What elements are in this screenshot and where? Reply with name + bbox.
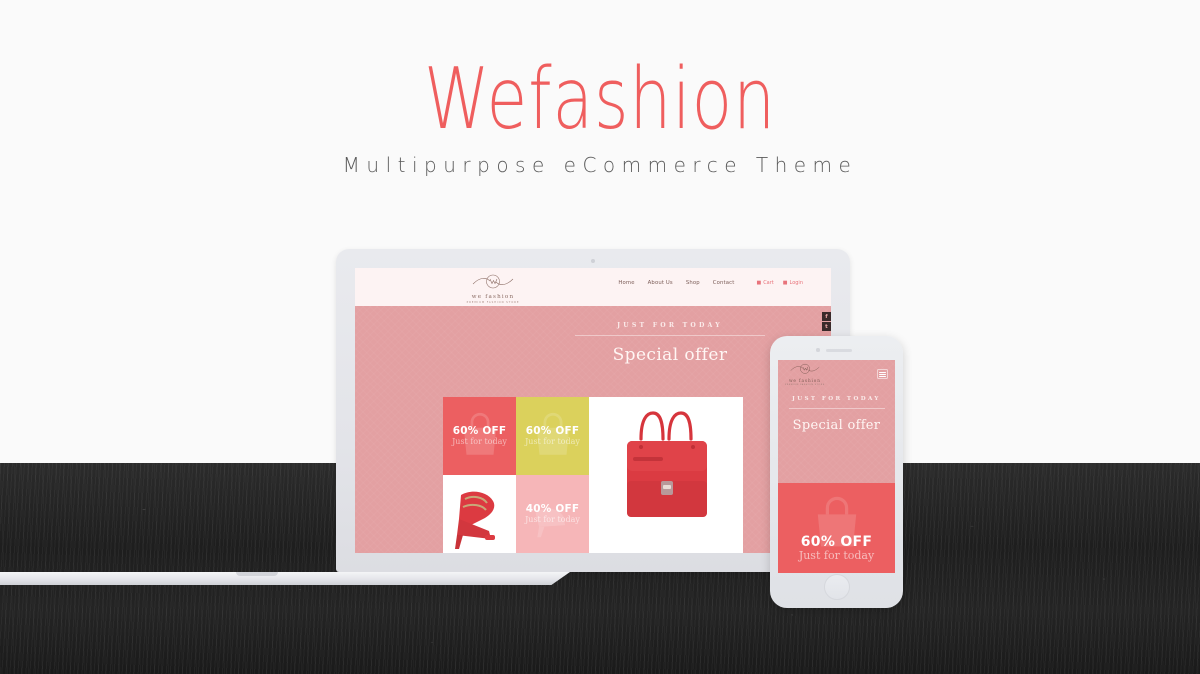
site-navigation: Home About Us Shop Contact ■ Cart ■ Logi… [618, 280, 803, 286]
mobile-logo-wordmark: we fashion [789, 378, 821, 383]
desktop-website-preview: we fashion PREMIUM FASHION STORE Home Ab… [355, 268, 831, 553]
site-body: 60% OFF Just for today 60% OFF Just for … [355, 384, 831, 553]
mobile-hero-title: Special offer [778, 418, 895, 433]
mobile-logo-tagline: PREMIUM FASHION STORE [785, 384, 825, 386]
page-subtitle: Multipurpose eCommerce Theme [0, 153, 1200, 177]
phone-screen: we fashion PREMIUM FASHION STORE JUST FO… [778, 360, 895, 573]
site-hero-banner: f t JUST FOR TODAY Special offer [355, 306, 831, 384]
logo-wordmark: we fashion [472, 294, 515, 300]
mobile-promo-panel[interactable]: 60% OFF Just for today [778, 483, 895, 573]
promo-tile-pink[interactable]: 40% OFF Just for today [516, 475, 589, 553]
mobile-discount-subtext: Just for today [778, 550, 895, 563]
phone-home-button[interactable] [824, 574, 850, 600]
headline-block: Wefashion Multipurpose eCommerce Theme [0, 55, 1200, 177]
login-label: Login [790, 280, 804, 286]
nav-item-home[interactable]: Home [618, 280, 634, 286]
login-button[interactable]: ■ Login [783, 280, 803, 286]
logo-tagline: PREMIUM FASHION STORE [467, 301, 520, 304]
laptop-screen: we fashion PREMIUM FASHION STORE Home Ab… [355, 268, 831, 553]
site-logo[interactable]: we fashion PREMIUM FASHION STORE [459, 268, 527, 308]
mobile-discount-value: 60% OFF [778, 535, 895, 549]
laptop-webcam-icon [591, 259, 595, 263]
promo-caption: 60% OFF Just for today [443, 426, 516, 446]
twitter-icon[interactable]: t [822, 322, 831, 331]
phone-speaker-grille [826, 349, 852, 352]
hero-content: JUST FOR TODAY Special offer [555, 322, 785, 365]
promo-caption: 60% OFF Just for today [516, 426, 589, 446]
nav-item-about[interactable]: About Us [648, 280, 673, 286]
product-grid: 60% OFF Just for today 60% OFF Just for … [443, 397, 743, 553]
discount-subtext: Just for today [443, 437, 516, 446]
hero-title: Special offer [555, 345, 785, 365]
phone-camera-icon [816, 348, 820, 352]
discount-value: 60% OFF [443, 426, 516, 437]
burger-line [879, 376, 886, 377]
laptop-base [0, 572, 570, 585]
promo-caption: 40% OFF Just for today [516, 504, 589, 524]
red-handbag-image [589, 397, 743, 553]
product-tile-handbag[interactable] [589, 397, 743, 553]
facebook-icon[interactable]: f [822, 312, 831, 321]
mobile-site-logo[interactable]: we fashion PREMIUM FASHION STORE [785, 362, 825, 386]
promo-tile-red[interactable]: 60% OFF Just for today [443, 397, 516, 475]
hero-divider [575, 335, 765, 336]
mobile-hero-divider [789, 408, 885, 409]
social-sidebar: f t [822, 312, 831, 331]
logo-emblem-icon [468, 272, 518, 293]
site-header: we fashion PREMIUM FASHION STORE Home Ab… [355, 268, 831, 306]
discount-value: 60% OFF [516, 426, 589, 437]
cart-button[interactable]: ■ Cart [756, 280, 773, 286]
user-icon: ■ [783, 280, 788, 286]
mobile-hero-banner: we fashion PREMIUM FASHION STORE JUST FO… [778, 360, 895, 483]
mobile-promo-caption: 60% OFF Just for today [778, 535, 895, 563]
burger-line [879, 372, 886, 373]
hamburger-menu-icon[interactable] [877, 369, 888, 379]
nav-item-contact[interactable]: Contact [713, 280, 735, 286]
mobile-hero-kicker: JUST FOR TODAY [778, 396, 895, 402]
laptop-hinge-notch [236, 572, 278, 576]
red-high-heel-shoe-image [443, 475, 516, 553]
product-tile-shoe[interactable] [443, 475, 516, 553]
mobile-topbar: we fashion PREMIUM FASHION STORE [778, 360, 895, 388]
discount-value: 40% OFF [516, 504, 589, 515]
burger-line [879, 374, 886, 375]
discount-subtext: Just for today [516, 515, 589, 524]
nav-utilities: ■ Cart ■ Login [756, 280, 803, 286]
logo-emblem-icon [787, 362, 823, 377]
page-title: Wefashion [48, 55, 1152, 144]
promo-tile-yellow[interactable]: 60% OFF Just for today [516, 397, 589, 475]
cart-icon: ■ [756, 280, 761, 286]
cart-label: Cart [763, 280, 774, 286]
hero-kicker: JUST FOR TODAY [555, 322, 785, 329]
phone-mockup: we fashion PREMIUM FASHION STORE JUST FO… [770, 336, 903, 608]
discount-subtext: Just for today [516, 437, 589, 446]
nav-item-shop[interactable]: Shop [686, 280, 700, 286]
